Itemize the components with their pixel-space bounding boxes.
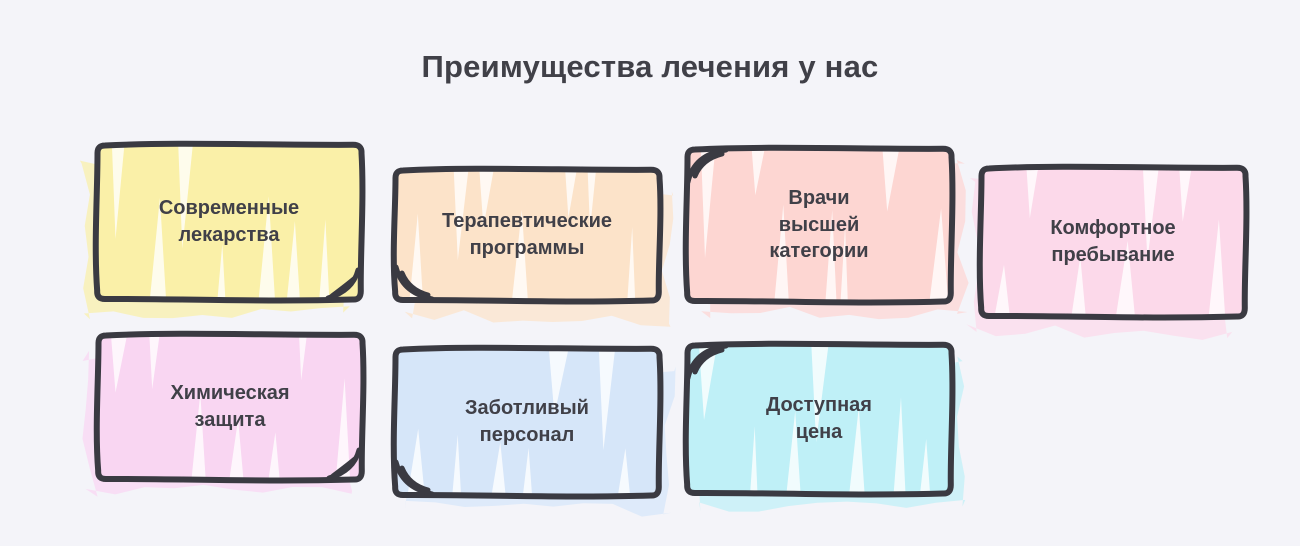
card-shape-comfortable-stay	[960, 147, 1266, 337]
card-fill	[97, 334, 364, 481]
benefit-card-comfortable-stay[interactable]: Комфортное пребывание	[980, 167, 1246, 317]
benefit-card-top-category-doctors[interactable]: Врачи высшей категории	[686, 148, 952, 302]
page-title: Преимущества лечения у нас	[0, 48, 1300, 85]
card-fill	[980, 167, 1247, 318]
infographic-root: Преимущества лечения у нас Современные л…	[0, 0, 1300, 546]
benefit-card-caring-staff[interactable]: Заботливый персонал	[394, 348, 660, 496]
benefit-card-therapeutic-programs[interactable]: Терапевтические программы	[394, 169, 660, 301]
card-shape-caring-staff	[374, 328, 680, 516]
card-shape-therapeutic-programs	[374, 149, 680, 321]
card-shape-modern-medicines	[76, 124, 382, 320]
card-shape-chemical-protection	[77, 314, 383, 500]
benefit-card-chemical-protection[interactable]: Химическая защита	[97, 334, 363, 480]
card-shape-affordable-price	[666, 324, 972, 514]
card-shape-top-category-doctors	[666, 128, 972, 322]
card-fill	[686, 148, 953, 303]
card-fill	[394, 169, 661, 302]
benefit-card-affordable-price[interactable]: Доступная цена	[686, 344, 952, 494]
benefit-card-modern-medicines[interactable]: Современные лекарства	[96, 144, 362, 300]
